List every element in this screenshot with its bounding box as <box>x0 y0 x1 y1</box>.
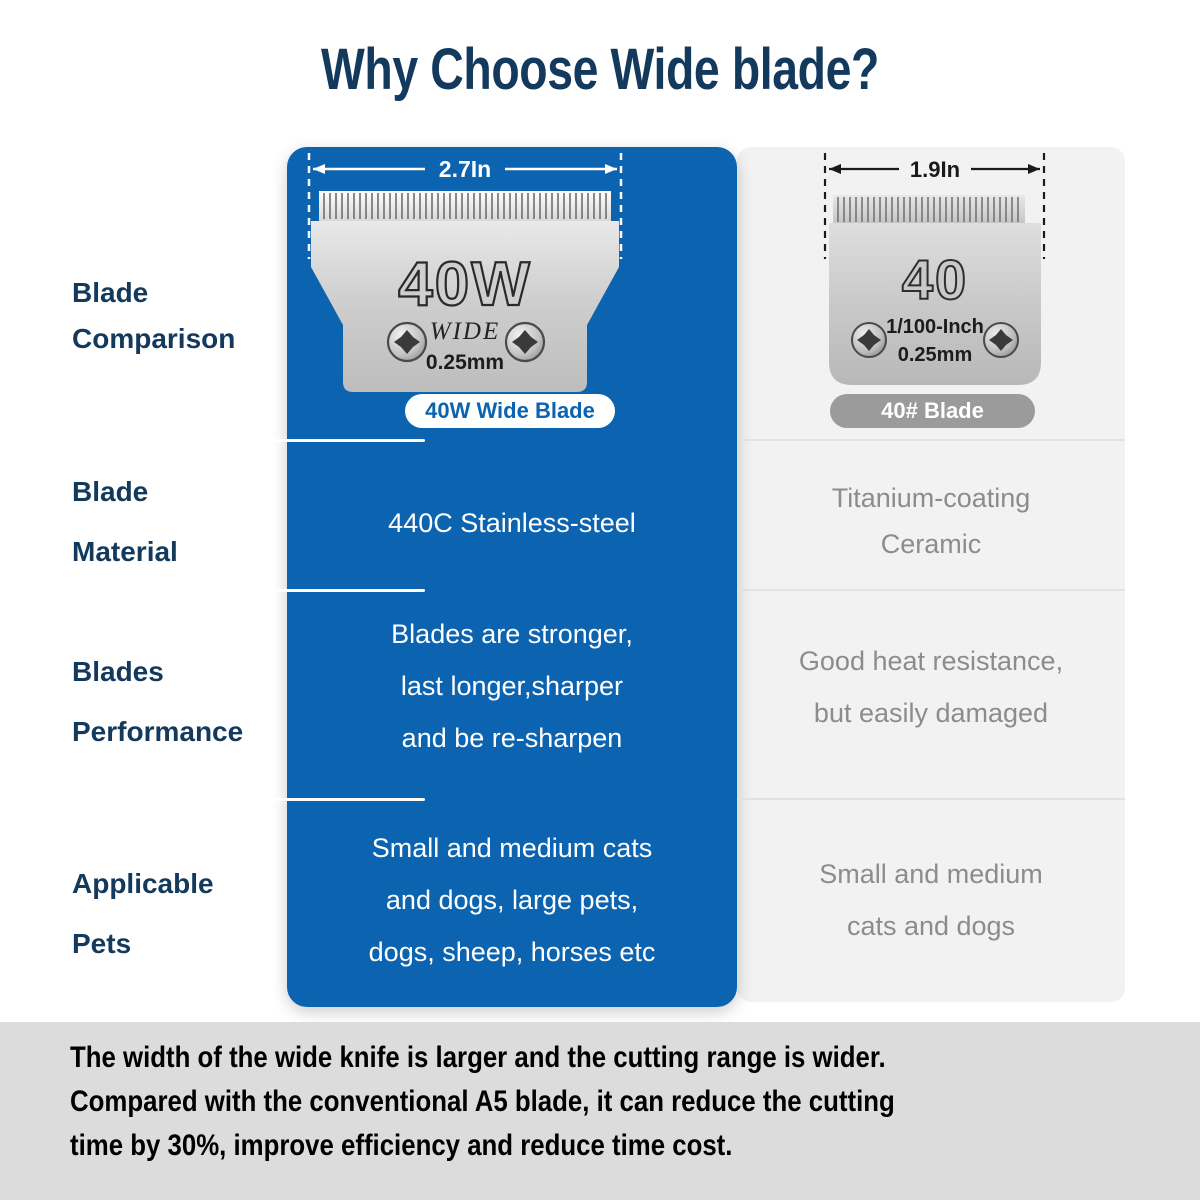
wide-blade-sublabel-text: WIDE <box>430 318 500 345</box>
highlight-cell-pets: Small and medium cats and dogs, large pe… <box>287 822 737 978</box>
standard-cell-performance: Good heat resistance, but easily damaged <box>737 635 1125 739</box>
wide-blade-screw-left <box>388 323 426 361</box>
highlight-cell-performance: Blades are stronger, last longer,sharper… <box>287 608 737 764</box>
standard-blade-fraction-text: 1/100-Inch <box>886 316 984 338</box>
highlight-column-badge[interactable]: 40W Wide Blade <box>405 394 615 428</box>
standard-blade-size-text: 0.25mm <box>898 344 973 366</box>
caption-line-2: Compared with the conventional A5 blade,… <box>70 1080 1007 1124</box>
wide-blade-svg: 2.7In <box>287 147 737 412</box>
standard-blade-screw-right <box>984 323 1018 357</box>
row-label-blades-performance: Blades Performance <box>72 642 282 762</box>
wide-blade-graphic: 2.7In <box>287 147 737 407</box>
page-title: Why Choose Wide blade? <box>120 36 1080 103</box>
comparison-table: Blade Comparison <box>0 130 1200 1020</box>
row-divider-1-right <box>737 439 1125 441</box>
standard-blade-dimension-text: 1.9In <box>910 157 960 182</box>
standard-blade-model-text: 40 <box>902 248 968 311</box>
caption-line-3: time by 30%, improve efficiency and redu… <box>70 1124 1007 1168</box>
wide-blade-model-text: 40W <box>398 250 531 319</box>
standard-blade-screw-left <box>852 323 886 357</box>
row-label-blade-material: Blade Material <box>72 462 282 582</box>
row-divider-3-right <box>737 798 1125 800</box>
row-divider-2-right <box>737 589 1125 591</box>
caption-text: The width of the wide knife is larger an… <box>70 1036 1007 1168</box>
row-divider-3-blue <box>25 798 425 801</box>
row-divider-2-blue <box>25 589 425 592</box>
wide-blade-dimension-text: 2.7In <box>439 156 491 182</box>
highlight-cell-material: 440C Stainless-steel <box>287 500 737 546</box>
row-divider-1-blue <box>25 439 425 442</box>
standard-blade-graphic: 1.9In <box>737 147 1125 407</box>
row-label-blade-comparison: Blade Comparison <box>72 270 282 362</box>
standard-blade-svg: 1.9In <box>737 147 1125 412</box>
caption-line-1: The width of the wide knife is larger an… <box>70 1036 1007 1080</box>
wide-blade-size-text: 0.25mm <box>426 351 504 374</box>
standard-column-badge[interactable]: 40# Blade <box>830 394 1035 428</box>
row-label-applicable-pets: Applicable Pets <box>72 854 282 974</box>
wide-blade-screw-right <box>506 323 544 361</box>
standard-cell-material: Titanium-coating Ceramic <box>737 475 1125 567</box>
standard-cell-pets: Small and medium cats and dogs <box>737 848 1125 952</box>
